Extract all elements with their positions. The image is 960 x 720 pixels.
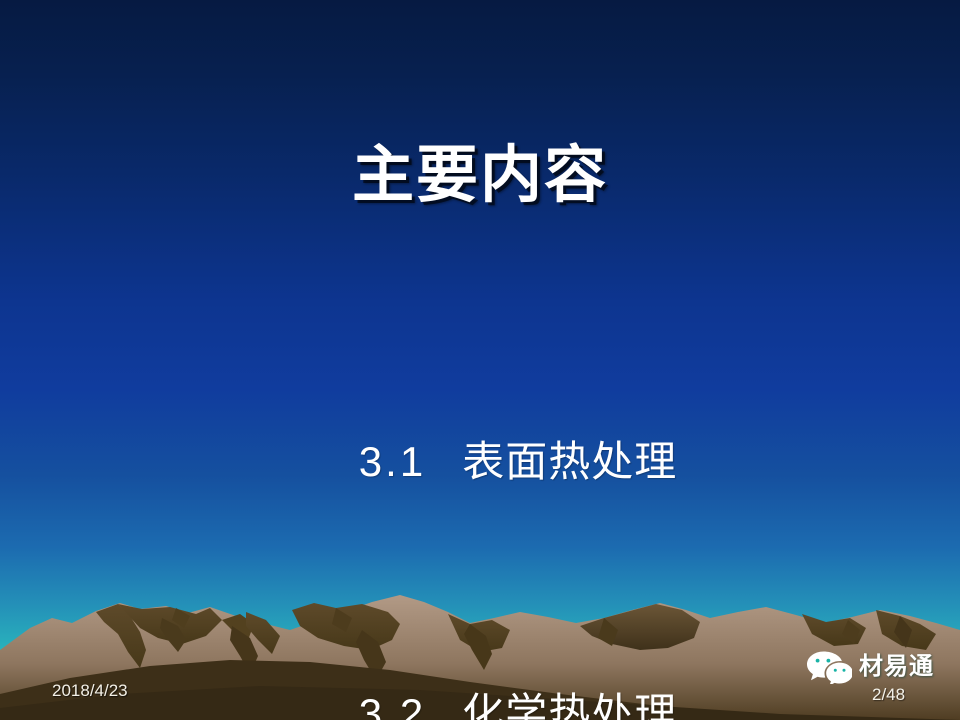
bullet-number-1: 3.1 <box>359 438 426 485</box>
bullet-line-1: 3.1表面热处理 <box>0 336 960 588</box>
bullet-text-2: 化学热处理 <box>462 690 677 720</box>
presentation-slide: 主要内容 3.1表面热处理 3.2化学热处理 2018/4/23 材易通 2/4… <box>0 0 960 720</box>
watermark: 材易通 <box>806 650 934 684</box>
bullet-text-1: 表面热处理 <box>462 438 677 485</box>
page-number: 2/48 <box>872 684 905 706</box>
watermark-label: 材易通 <box>859 652 934 682</box>
wechat-icon <box>806 650 852 684</box>
bullet-number-2: 3.2 <box>359 690 426 720</box>
footer-date: 2018/4/23 <box>52 680 128 702</box>
slide-title: 主要内容 <box>0 136 960 216</box>
